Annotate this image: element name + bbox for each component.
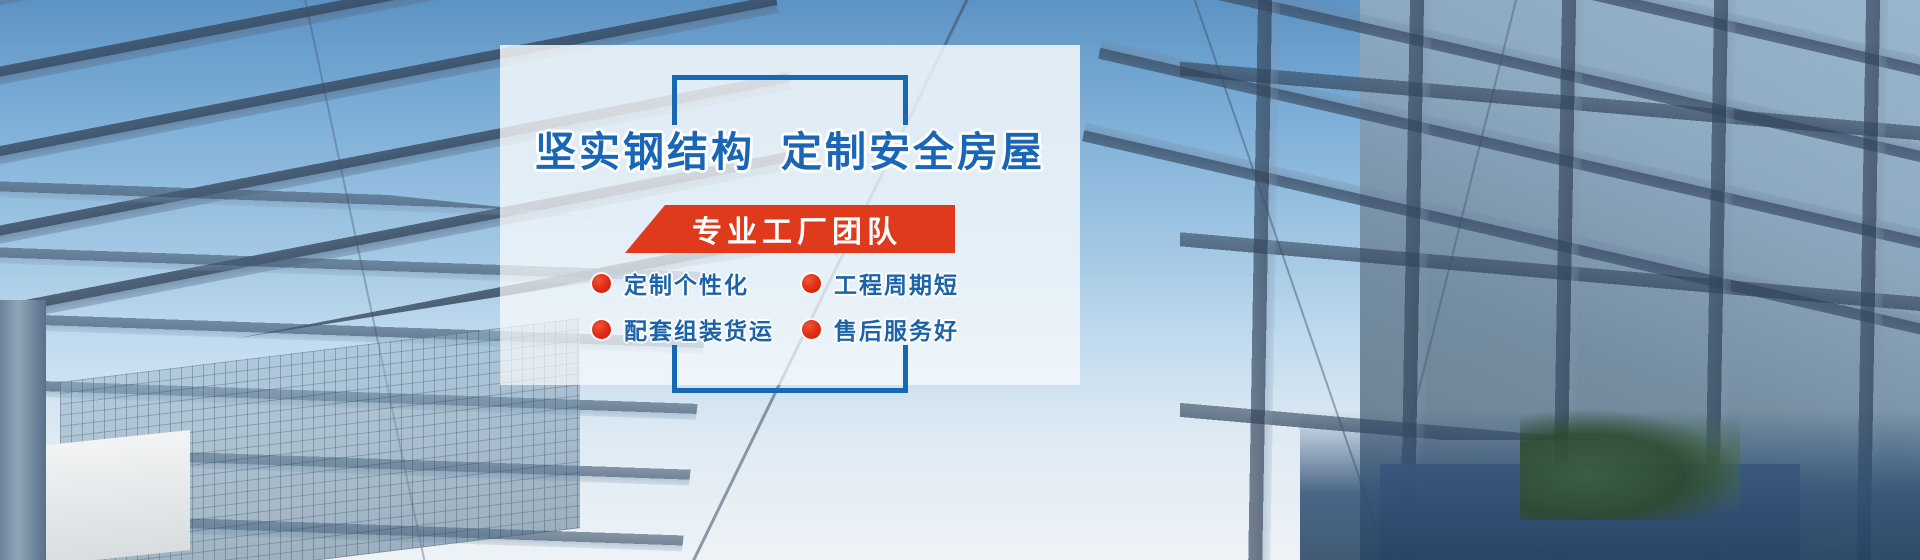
red-dot-icon xyxy=(592,274,611,293)
feature-item-1: 定制个性化 xyxy=(592,266,802,300)
feature-item-3: 配套组装货运 xyxy=(592,312,802,346)
tree-patch xyxy=(1520,410,1740,520)
hero-banner: 坚实钢结构定制安全房屋 专业工厂团队 定制个性化 工程周期短 配套组装货运 售后… xyxy=(0,0,1920,560)
feature-row-2: 配套组装货运 售后服务好 xyxy=(592,312,1012,346)
feature-row-1: 定制个性化 工程周期短 xyxy=(592,266,1012,300)
feature-label-3: 配套组装货运 xyxy=(624,312,774,346)
feature-label-2: 工程周期短 xyxy=(834,266,959,300)
page-title: 坚实钢结构定制安全房屋 xyxy=(500,118,1080,178)
red-dot-icon xyxy=(802,274,821,293)
left-column xyxy=(0,300,46,560)
headline-part-1: 坚实钢结构 xyxy=(535,128,755,176)
feature-list: 定制个性化 工程周期短 配套组装货运 售后服务好 xyxy=(592,266,1012,358)
ribbon-label: 专业工厂团队 xyxy=(678,207,902,251)
red-dot-icon xyxy=(592,320,611,339)
feature-label-1: 定制个性化 xyxy=(624,266,749,300)
headline-part-2: 定制安全房屋 xyxy=(781,128,1045,176)
feature-item-2: 工程周期短 xyxy=(802,266,1012,300)
ribbon-badge: 专业工厂团队 xyxy=(625,205,955,253)
red-dot-icon xyxy=(802,320,821,339)
feature-item-4: 售后服务好 xyxy=(802,312,1012,346)
feature-label-4: 售后服务好 xyxy=(834,312,959,346)
